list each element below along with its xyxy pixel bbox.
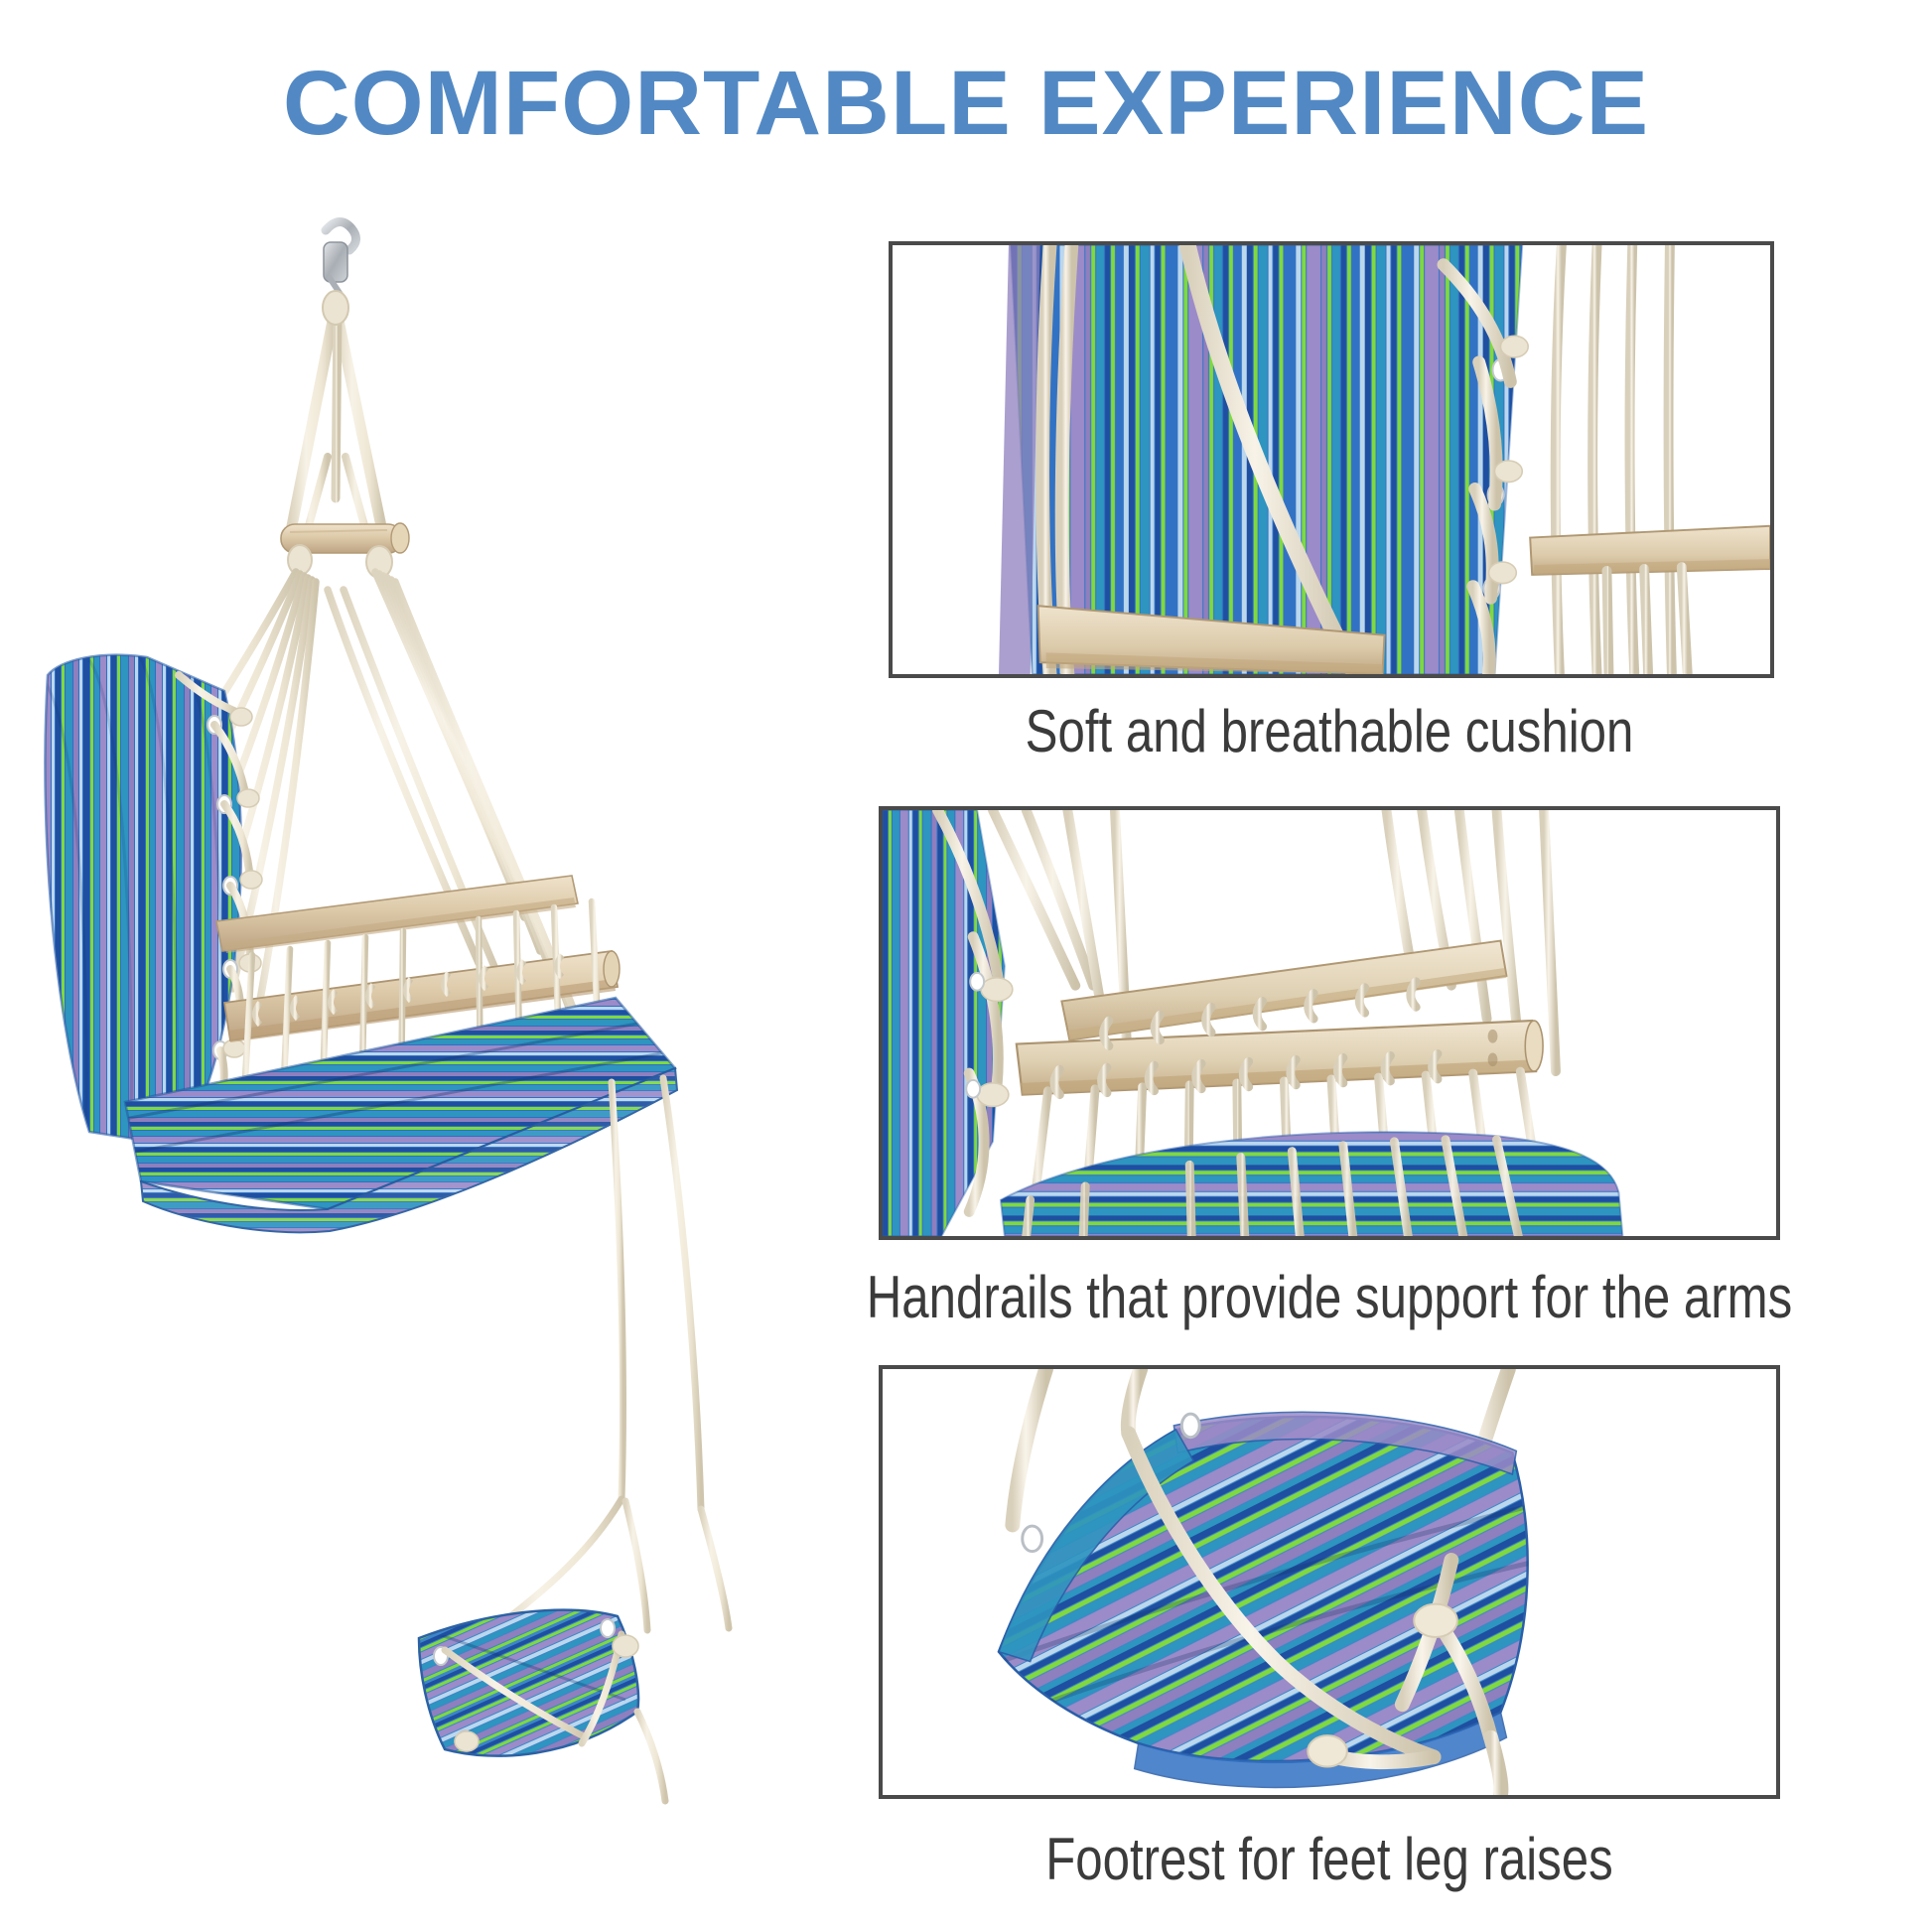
detail-panel-cushion	[889, 241, 1774, 678]
rope-knot-lower	[1308, 1735, 1347, 1766]
infographic-page: COMFORTABLE EXPERIENCE	[0, 0, 1932, 1932]
hero-product-image	[30, 208, 864, 1876]
page-title: COMFORTABLE EXPERIENCE	[0, 52, 1932, 156]
caption-handrail: Handrails that provide support for the a…	[838, 1263, 1822, 1331]
rope-knot-upper	[1414, 1604, 1457, 1637]
caption-footrest: Footrest for feet leg raises	[960, 1825, 1700, 1893]
footrest	[419, 1610, 665, 1801]
caption-cushion: Soft and breathable cushion	[960, 697, 1700, 765]
detail-panel-footrest	[879, 1365, 1780, 1799]
detail-panel-handrail	[879, 806, 1780, 1240]
